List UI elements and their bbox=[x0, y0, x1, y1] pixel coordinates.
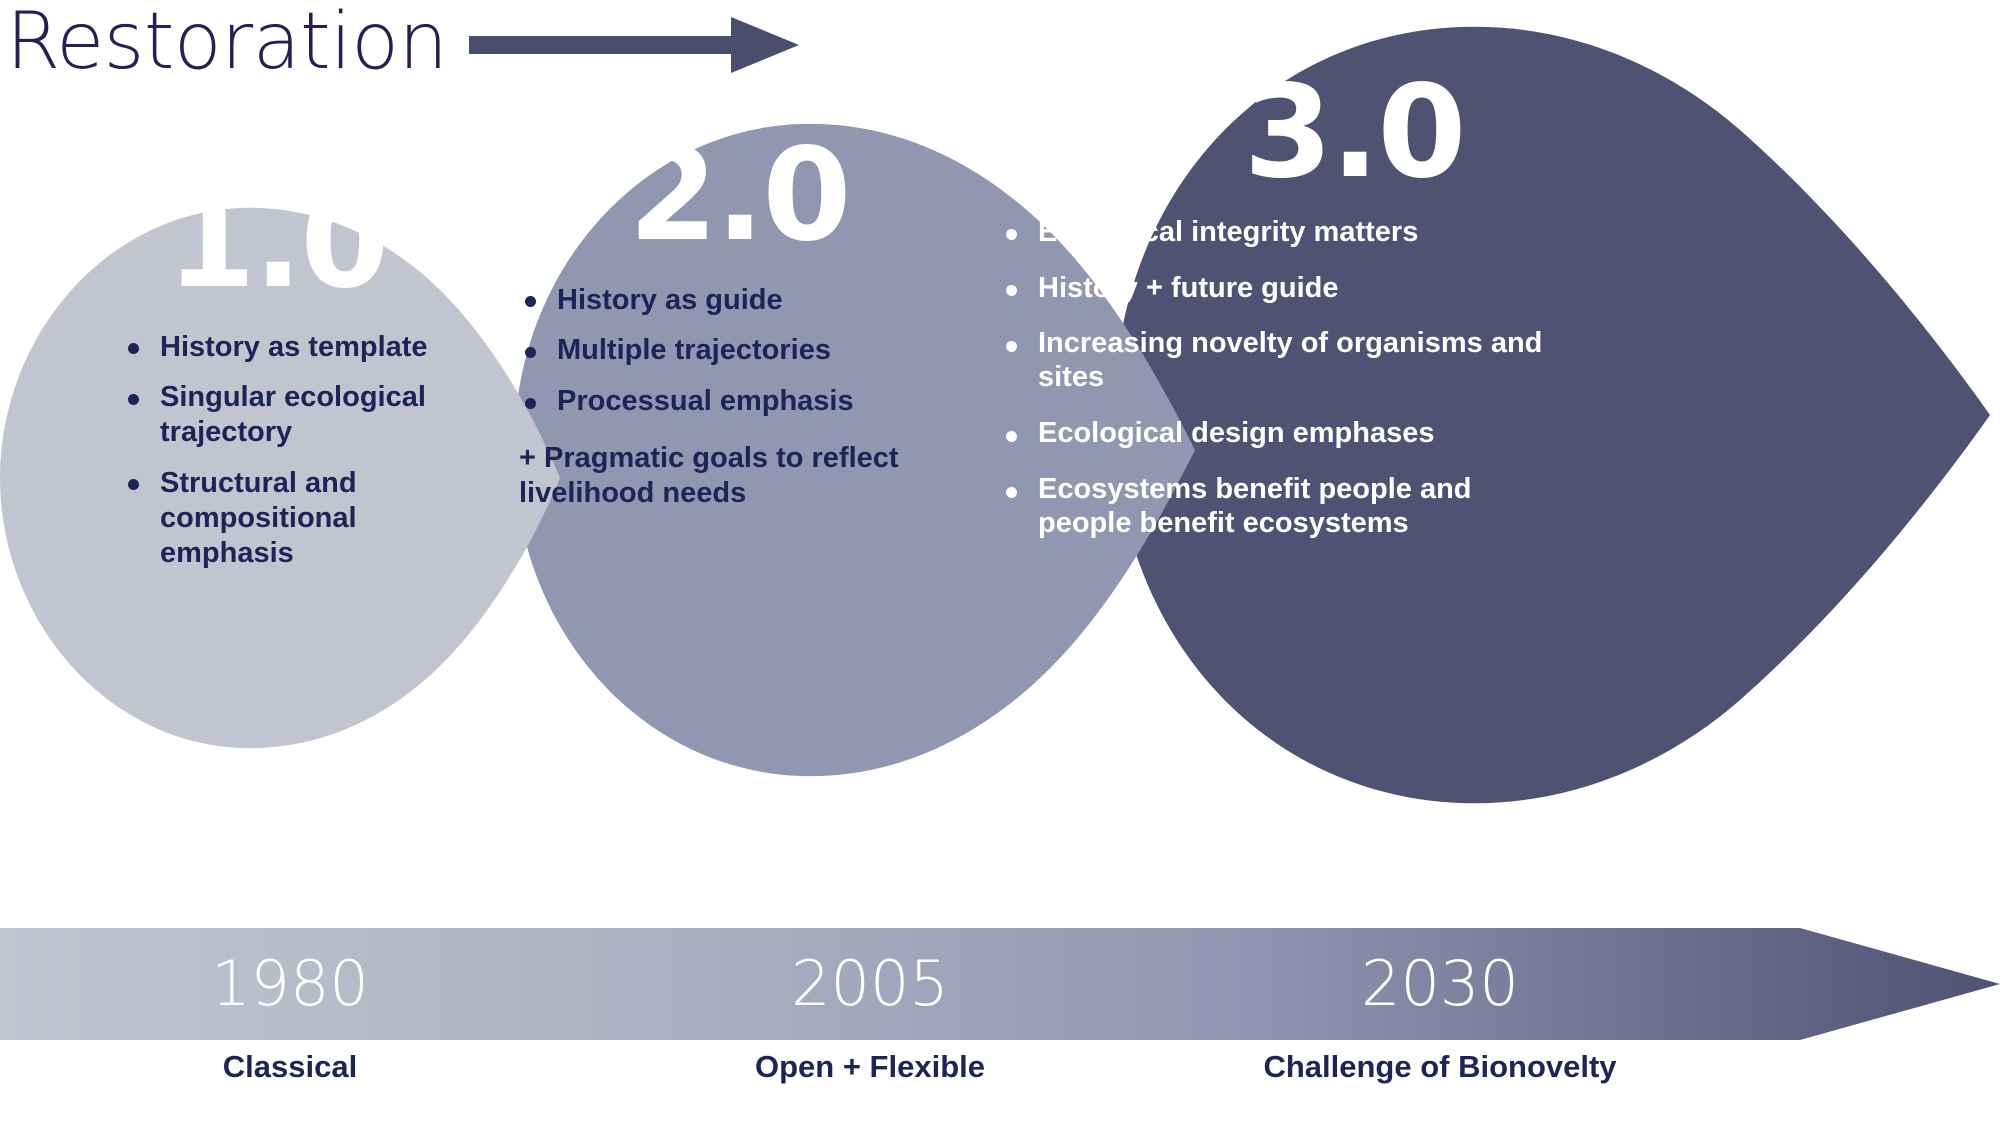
list-item: History + future guide bbox=[1000, 272, 1560, 306]
infographic-canvas: Restoration 1.0 History as template Sing… bbox=[0, 0, 2000, 1125]
timeline-year: 2030 bbox=[1160, 928, 1720, 1040]
timeline-year: 1980 bbox=[0, 928, 580, 1040]
list-item-plus: + Pragmatic goals to reflect livelihood … bbox=[519, 441, 935, 511]
stage-3-number: 3.0 bbox=[1148, 72, 1560, 194]
timeline-label: Challenge of Bionovelty bbox=[1160, 1048, 1720, 1085]
page-title: Restoration bbox=[0, 3, 447, 81]
stage-1-bullet-list: History as template Singular ecological … bbox=[122, 330, 472, 571]
stage-2-number: 2.0 bbox=[543, 135, 935, 257]
right-arrow-icon bbox=[469, 15, 799, 75]
stage-1-number: 1.0 bbox=[82, 182, 472, 304]
timeline-label: Open + Flexible bbox=[580, 1048, 1160, 1085]
list-item: Processual emphasis bbox=[519, 384, 935, 419]
list-item: Multiple trajectories bbox=[519, 333, 935, 368]
list-item: Singular ecological trajectory bbox=[122, 380, 472, 450]
stage-2-content: 2.0 History as guide Multiple trajectori… bbox=[505, 135, 935, 527]
list-item: Ecological design emphases bbox=[1000, 417, 1560, 451]
timeline-labels-row: Classical Open + Flexible Challenge of B… bbox=[0, 1048, 2000, 1085]
header: Restoration bbox=[0, 0, 1000, 92]
timeline-years-row: 1980 2005 2030 bbox=[0, 928, 2000, 1040]
stage-2-bullet-list: History as guide Multiple trajectories P… bbox=[519, 283, 935, 511]
stage-3-content: 3.0 Ecological integrity matters History… bbox=[1000, 72, 1560, 563]
list-item: Increasing novelty of organisms and site… bbox=[1000, 327, 1560, 395]
list-item: Structural and compositional emphasis bbox=[122, 466, 472, 570]
list-item: History as template bbox=[122, 330, 472, 365]
timeline-label: Classical bbox=[0, 1048, 580, 1085]
timeline-year: 2005 bbox=[580, 928, 1160, 1040]
list-item: History as guide bbox=[519, 283, 935, 318]
timeline: 1980 2005 2030 Classical Open + Flexible… bbox=[0, 928, 2000, 1125]
list-item: Ecological integrity matters bbox=[1000, 216, 1560, 250]
list-item: Ecosystems benefit people and people ben… bbox=[1000, 473, 1560, 541]
stage-1-content: 1.0 History as template Singular ecologi… bbox=[92, 182, 472, 586]
stage-3-bullet-list: Ecological integrity matters History + f… bbox=[1000, 216, 1560, 541]
